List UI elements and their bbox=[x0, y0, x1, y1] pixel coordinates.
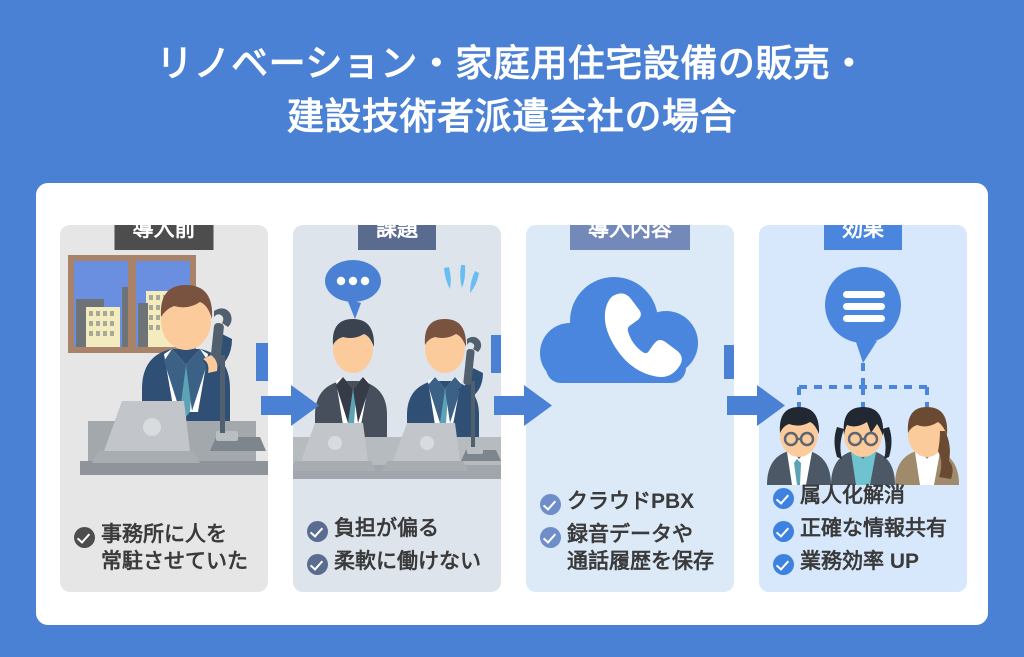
bullet-text: 業務効率 UP bbox=[800, 549, 919, 576]
bullet-item: 業務効率 UP bbox=[773, 549, 959, 576]
arrow-step-2-to-3-icon bbox=[494, 385, 552, 426]
bullet-item: 柔軟に働けない bbox=[307, 549, 493, 576]
bullet-text: 録音データや 通話履歴を保存 bbox=[567, 522, 714, 576]
title-line-1: リノベーション・家庭用住宅設備の販売・ bbox=[0, 38, 1024, 91]
step-card-solution: 導入内容 クラウドPBX 録音データや 通話履歴を保存 bbox=[526, 225, 734, 592]
step-card-issues: 課題 bbox=[293, 225, 501, 592]
card-badge-issues: 課題 bbox=[358, 225, 436, 250]
check-circle-icon bbox=[307, 554, 328, 575]
bullet-text: 負担が偏る bbox=[334, 516, 439, 543]
arrow-step-3-to-4-icon bbox=[727, 385, 785, 426]
card-badge-before: 導入前 bbox=[115, 225, 214, 250]
step-card-effect: 効果 bbox=[759, 225, 967, 592]
check-circle-icon bbox=[307, 521, 328, 542]
bullet-item: 録音データや 通話履歴を保存 bbox=[540, 522, 726, 576]
step-card-before: 導入前 bbox=[60, 225, 268, 592]
bullet-list-before: 事務所に人を 常駐させていた bbox=[74, 522, 260, 576]
bullet-item: クラウドPBX bbox=[540, 489, 726, 516]
bullet-item: 負担が偏る bbox=[307, 516, 493, 543]
illustration-shared-info-bubble-three-people bbox=[759, 259, 967, 519]
bullet-list-effect: 属人化解消 正確な情報共有 業務効率 UP bbox=[773, 483, 959, 576]
page-title: リノベーション・家庭用住宅設備の販売・ 建設技術者派遣会社の場合 bbox=[0, 38, 1024, 143]
bullet-item: 正確な情報共有 bbox=[773, 516, 959, 543]
bullet-item: 事務所に人を 常駐させていた bbox=[74, 522, 260, 576]
illustration-two-workers-speech-bubble-and-stress bbox=[293, 225, 501, 485]
bullet-list-issues: 負担が偏る 柔軟に働けない bbox=[307, 516, 493, 576]
card-badge-effect: 効果 bbox=[824, 225, 902, 250]
bullet-text: 正確な情報共有 bbox=[800, 516, 947, 543]
bullet-list-solution: クラウドPBX 録音データや 通話履歴を保存 bbox=[540, 489, 726, 576]
check-circle-icon bbox=[773, 521, 794, 542]
bullet-text: 事務所に人を 常駐させていた bbox=[101, 522, 248, 576]
illustration-cloud-phone-icon bbox=[526, 251, 734, 511]
bullet-text: 柔軟に働けない bbox=[334, 549, 481, 576]
illustration-office-worker-on-phone-at-desk bbox=[60, 225, 268, 485]
title-line-2: 建設技術者派遣会社の場合 bbox=[0, 91, 1024, 144]
arrow-step-1-to-2-icon bbox=[261, 385, 319, 426]
bullet-text: 属人化解消 bbox=[800, 483, 905, 510]
check-circle-icon bbox=[540, 527, 561, 548]
card-badge-solution: 導入内容 bbox=[570, 225, 690, 250]
check-circle-icon bbox=[773, 488, 794, 509]
bullet-item: 属人化解消 bbox=[773, 483, 959, 510]
check-circle-icon bbox=[74, 527, 95, 548]
check-circle-icon bbox=[773, 554, 794, 575]
bullet-text: クラウドPBX bbox=[567, 489, 694, 516]
check-circle-icon bbox=[540, 494, 561, 515]
